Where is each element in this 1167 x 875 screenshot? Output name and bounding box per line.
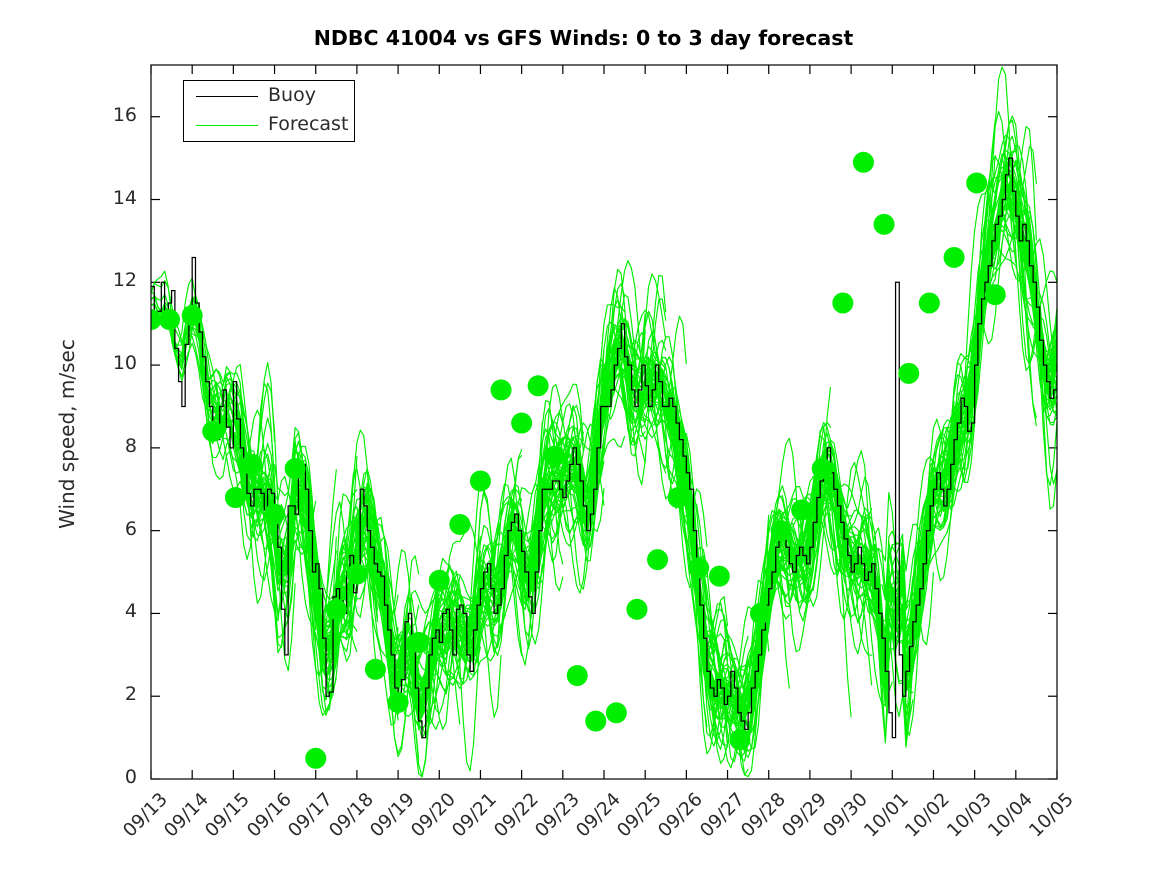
forecast-marker-dot bbox=[874, 214, 895, 235]
y-tick-label: 8 bbox=[77, 435, 137, 457]
forecast-marker-dot bbox=[305, 748, 326, 769]
legend-label-buoy: Buoy bbox=[268, 84, 316, 106]
forecast-marker-dot bbox=[511, 413, 532, 434]
forecast-marker-dot bbox=[264, 504, 285, 525]
legend: Buoy Forecast bbox=[183, 80, 355, 142]
forecast-marker-dot bbox=[365, 659, 386, 680]
forecast-marker-dot bbox=[668, 487, 689, 508]
forecast-marker-dot bbox=[408, 632, 429, 653]
chart-figure: NDBC 41004 vs GFS Winds: 0 to 3 day fore… bbox=[0, 0, 1167, 875]
forecast-marker-dot bbox=[225, 487, 246, 508]
forecast-marker-dot bbox=[771, 520, 792, 541]
y-tick-label: 2 bbox=[77, 683, 137, 705]
forecast-marker-dot bbox=[159, 309, 180, 330]
y-tick-label: 4 bbox=[77, 600, 137, 622]
forecast-marker-dot bbox=[388, 692, 409, 713]
forecast-marker-dot bbox=[919, 293, 940, 314]
legend-swatch-buoy bbox=[196, 96, 258, 97]
forecast-marker-dot bbox=[832, 293, 853, 314]
forecast-marker-dot bbox=[898, 363, 919, 384]
forecast-marker-dot bbox=[585, 711, 606, 732]
forecast-marker-dot bbox=[544, 446, 565, 467]
forecast-marker-dot bbox=[688, 557, 709, 578]
forecast-marker-dot bbox=[241, 454, 262, 475]
y-tick-label: 10 bbox=[77, 352, 137, 374]
legend-swatch-forecast bbox=[196, 125, 258, 126]
legend-item-forecast: Forecast bbox=[184, 110, 354, 141]
forecast-marker-dot bbox=[182, 305, 203, 326]
forecast-marker-dot bbox=[791, 499, 812, 520]
forecast-marker-dot bbox=[326, 599, 347, 620]
legend-label-forecast: Forecast bbox=[268, 113, 348, 135]
forecast-marker-dot bbox=[647, 549, 668, 570]
forecast-marker-dot bbox=[606, 702, 627, 723]
forecast-marker-dot bbox=[491, 379, 512, 400]
legend-item-buoy: Buoy bbox=[184, 81, 354, 112]
forecast-marker-dot bbox=[729, 729, 750, 750]
y-tick-label: 16 bbox=[77, 104, 137, 126]
forecast-ensemble-lines bbox=[151, 67, 1057, 777]
forecast-marker-dot bbox=[202, 421, 223, 442]
forecast-marker-dot bbox=[470, 470, 491, 491]
forecast-marker-dot bbox=[567, 665, 588, 686]
forecast-marker-dot bbox=[853, 152, 874, 173]
forecast-marker-dot bbox=[528, 375, 549, 396]
forecast-marker-dot bbox=[709, 566, 730, 587]
plot-canvas bbox=[0, 0, 1167, 875]
forecast-marker-dot bbox=[812, 458, 833, 479]
forecast-marker-dot bbox=[285, 458, 306, 479]
y-tick-label: 6 bbox=[77, 518, 137, 540]
forecast-marker-dot bbox=[944, 247, 965, 268]
forecast-marker-dot bbox=[750, 603, 771, 624]
forecast-marker-dot bbox=[346, 564, 367, 585]
forecast-marker-dot bbox=[626, 599, 647, 620]
y-tick-label: 14 bbox=[77, 187, 137, 209]
forecast-marker-dot bbox=[429, 570, 450, 591]
forecast-marker-dot bbox=[985, 284, 1006, 305]
y-tick-label: 0 bbox=[77, 766, 137, 788]
forecast-marker-dot bbox=[449, 514, 470, 535]
forecast-marker-dot bbox=[966, 172, 987, 193]
y-tick-label: 12 bbox=[77, 269, 137, 291]
